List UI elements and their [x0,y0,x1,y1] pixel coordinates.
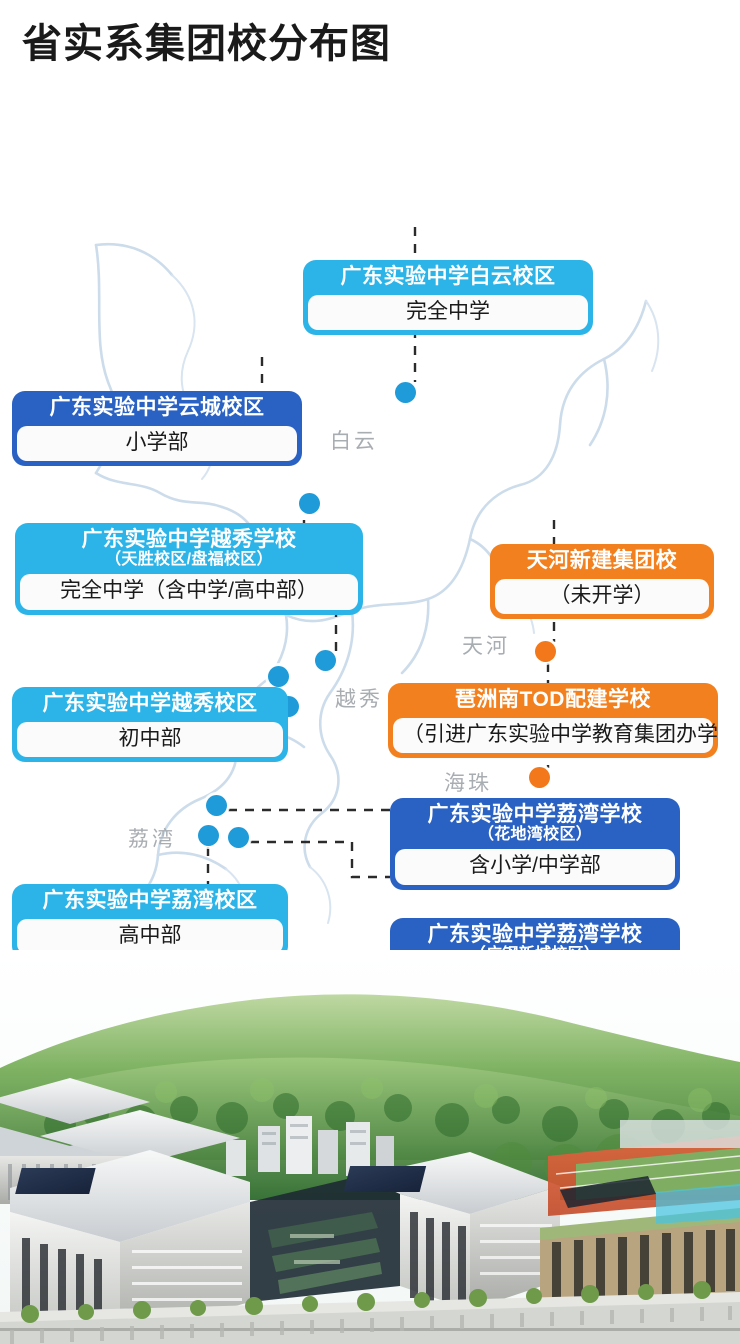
callout-header-pazhou-tod: 琶洲南TOD配建学校 [388,683,718,718]
callout-body-yuexiu-school: 完全中学（含中学/高中部） [20,574,358,609]
callout-liwan-guanggang[interactable]: 广东实验中学荔湾学校（广钢新城校区）含小学/中学部 [390,918,680,950]
callout-liwan-huadiwan[interactable]: 广东实验中学荔湾学校（花地湾校区）含小学/中学部 [390,798,680,890]
map-marker-liwan-campus[interactable] [198,825,219,846]
campus-photo-illustration [0,950,740,1344]
callout-header-yuexiu-campus: 广东实验中学越秀校区 [12,687,288,722]
callout-header-baiyun: 广东实验中学白云校区 [303,260,593,295]
callout-title-pazhou-tod: 琶洲南TOD配建学校 [402,688,704,712]
callout-header-liwan-campus: 广东实验中学荔湾校区 [12,884,288,919]
callout-title-liwan-huadiwan: 广东实验中学荔湾学校 [404,803,666,827]
callout-pazhou-tod[interactable]: 琶洲南TOD配建学校（引进广东实验中学教育集团办学） [388,683,718,758]
callout-header-yuncheng: 广东实验中学云城校区 [12,391,302,426]
district-label-2: 越秀 [335,683,383,713]
page-title: 省实系集团校分布图 [22,22,391,66]
map-marker-yuexiu-panfu[interactable] [268,666,289,687]
callout-title-liwan-guanggang: 广东实验中学荔湾学校 [404,923,666,947]
callout-body-pazhou-tod: （引进广东实验中学教育集团办学） [393,718,713,753]
callout-yuexiu-campus[interactable]: 广东实验中学越秀校区初中部 [12,687,288,762]
map-marker-baiyun-campus[interactable] [395,382,416,403]
callout-body-baiyun: 完全中学 [308,295,588,330]
callout-title-baiyun: 广东实验中学白云校区 [317,265,579,289]
callout-title-yuncheng: 广东实验中学云城校区 [26,396,288,420]
callout-header-liwan-huadiwan: 广东实验中学荔湾学校（花地湾校区） [390,798,680,849]
map-marker-yuexiu-tiansheng[interactable] [315,650,336,671]
callout-title-yuexiu-school: 广东实验中学越秀学校 [29,528,349,552]
callout-subtitle-yuexiu-school: （天胜校区/盘福校区） [29,551,349,569]
map-marker-tianhe-new-school[interactable] [535,641,556,662]
callout-header-liwan-guanggang: 广东实验中学荔湾学校（广钢新城校区） [390,918,680,950]
callout-body-liwan-campus: 高中部 [17,919,283,950]
callout-title-liwan-campus: 广东实验中学荔湾校区 [26,889,274,913]
district-label-4: 荔湾 [128,823,176,853]
map-marker-pazhou-tod-school[interactable] [529,767,550,788]
map-marker-yuncheng-campus[interactable] [299,493,320,514]
callout-body-liwan-huadiwan: 含小学/中学部 [395,849,675,884]
callout-tianhe-new[interactable]: 天河新建集团校（未开学） [490,544,714,619]
callout-subtitle-liwan-huadiwan: （花地湾校区） [404,826,666,844]
campus-aerial-photo [0,950,740,1344]
district-label-0: 白云 [330,425,378,455]
map-marker-liwan-huadiwan[interactable] [206,795,227,816]
connector-liwan-guanggang [250,842,390,877]
callout-title-yuexiu-campus: 广东实验中学越秀校区 [26,692,274,716]
map-canvas: 白云天河越秀海珠荔湾 广东实验中学白云校区完全中学广东实验中学云城校区小学部广东… [0,95,740,950]
map-marker-liwan-guanggang[interactable] [228,827,249,848]
callout-yuncheng[interactable]: 广东实验中学云城校区小学部 [12,391,302,466]
callout-header-yuexiu-school: 广东实验中学越秀学校（天胜校区/盘福校区） [15,523,363,574]
callout-title-tianhe-new: 天河新建集团校 [504,549,700,573]
callout-body-yuexiu-campus: 初中部 [17,722,283,757]
callout-body-yuncheng: 小学部 [17,426,297,461]
callout-body-tianhe-new: （未开学） [495,579,709,614]
district-label-1: 天河 [462,630,510,660]
district-label-3: 海珠 [444,767,492,797]
callout-header-tianhe-new: 天河新建集团校 [490,544,714,579]
callout-liwan-campus[interactable]: 广东实验中学荔湾校区高中部 [12,884,288,950]
callout-yuexiu-school[interactable]: 广东实验中学越秀学校（天胜校区/盘福校区）完全中学（含中学/高中部） [15,523,363,615]
callout-baiyun[interactable]: 广东实验中学白云校区完全中学 [303,260,593,335]
